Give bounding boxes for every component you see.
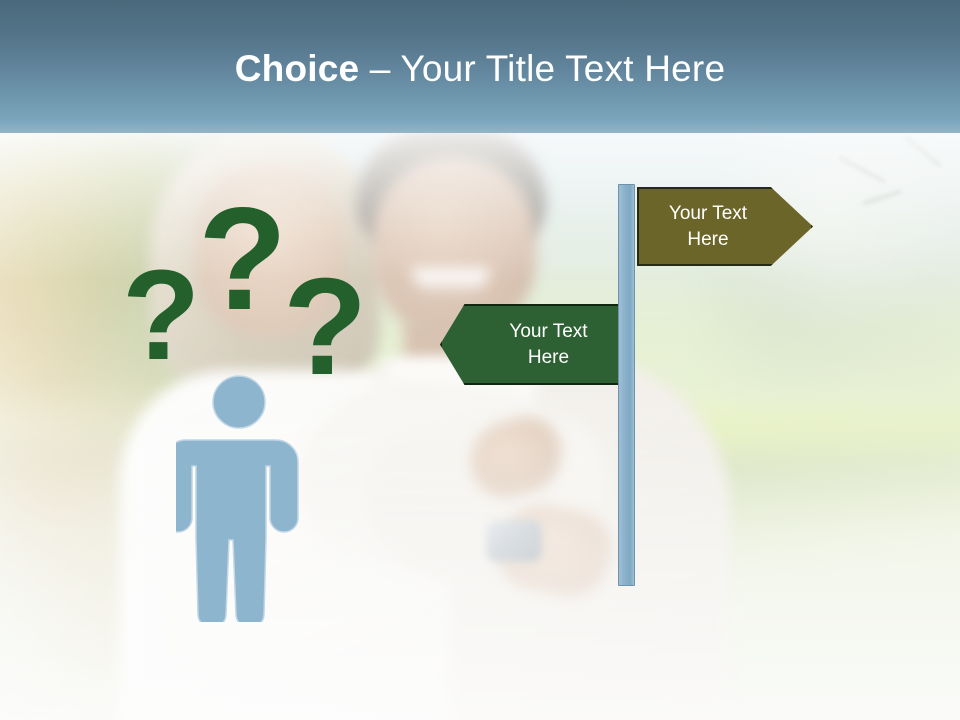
sign-olive-line-1: Your Text — [669, 201, 747, 227]
presentation-slide: Choice – Your Title Text Here ? ? ? Your… — [0, 0, 960, 720]
person-pictogram-icon — [176, 374, 302, 622]
page-title-rest: – Your Title Text Here — [359, 48, 725, 89]
title-banner: Choice – Your Title Text Here — [0, 0, 960, 133]
sign-green-left[interactable]: Your Text Here — [440, 304, 629, 385]
sign-green-line-1: Your Text — [509, 319, 587, 345]
sign-green-line-2: Here — [509, 345, 587, 371]
question-mark-middle-icon: ? — [198, 186, 287, 332]
page-title-strong: Choice — [235, 48, 360, 89]
page-title: Choice – Your Title Text Here — [0, 47, 960, 91]
signpost-pole — [618, 184, 635, 586]
sign-olive-line-2: Here — [669, 227, 747, 253]
question-mark-left-icon: ? — [122, 252, 200, 380]
sign-olive-text: Your Text Here — [669, 201, 747, 253]
sign-green-text: Your Text Here — [509, 319, 587, 371]
